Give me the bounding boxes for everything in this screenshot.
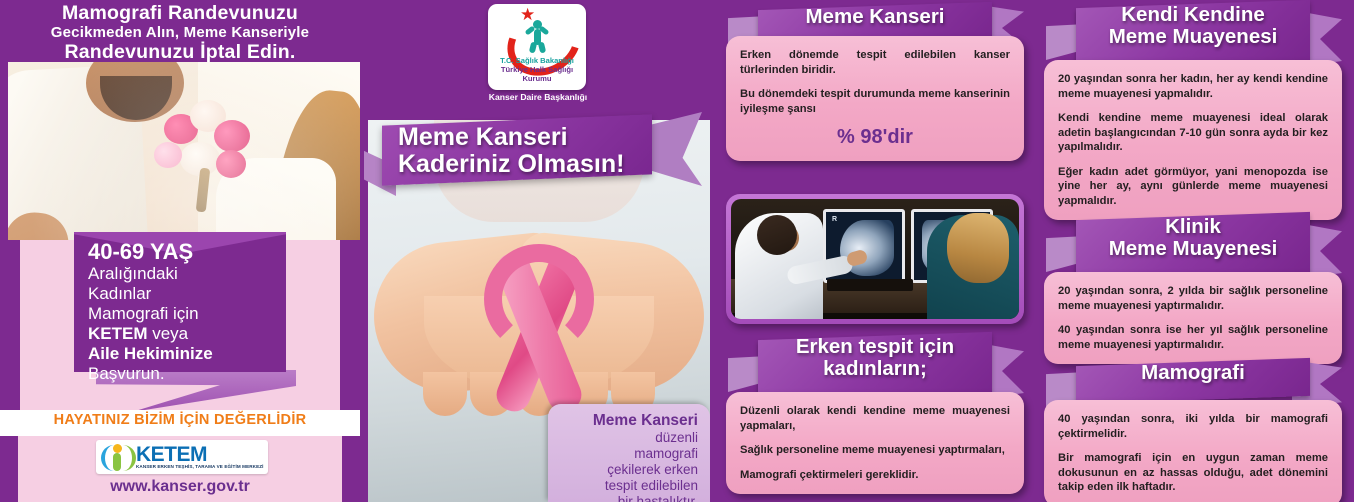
right-panel: Meme Kanseri Erken dönemde tespit edileb… [712,0,1354,502]
middle-note-line4: tespit edilebilen [558,478,698,494]
middle-panel: Meme Kanseri Kaderiniz Olmasın! T.C. Sağ… [364,0,710,502]
card-kendi-kendine-meme-muayenesi: 20 yaşından sonra her kadın, her ay kend… [1044,60,1342,220]
card-title-klinik-line1: Klinik [1165,215,1221,238]
pink-awareness-ribbon-icon [479,248,599,416]
left-headline-line3: Randevunuzu İptal Edin. [0,41,360,64]
card-erken-tespit: Düzenli olarak kendi kendine meme muayen… [726,392,1024,494]
middle-title-text: Meme Kanseri Kaderiniz Olmasın! [398,124,660,178]
ketem-logo: KETEM KANSER ERKEN TEŞHİS, TARAMA VE EĞİ… [96,440,268,474]
card-title-klinik-line2: Meme Muayenesi [1109,237,1278,260]
photo-keyboard [827,279,913,291]
ketem-subtitle: KANSER ERKEN TEŞHİS, TARAMA VE EĞİTİM ME… [136,464,264,469]
card-erken-tespit-p1: Düzenli olarak kendi kendine meme muayen… [740,404,1010,433]
ministry-logo-line2: Türkiye Halk Sağlığı Kurumu [488,65,586,83]
ministry-logo-line3: Kurumu [522,74,551,83]
callout-line3: Kadınlar [88,284,274,304]
left-headline-line2: Gecikmeden Alın, Meme Kanseriyle [0,24,360,41]
card-title-erken-tespit-line1: Erken tespit için [796,335,954,358]
card-klinik-meme-muayenesi: 20 yaşından sonra, 2 yılda bir sağlık pe… [1044,272,1342,364]
ketem-figure-icon [96,441,136,473]
left-slogan: HAYATINIZ BİZİM İÇİN DEĞERLİDİR [0,412,360,428]
right-column-b: Kendi Kendine Meme Muayenesi 20 yaşından… [1034,0,1352,502]
photo-doctor-hair [757,215,797,255]
middle-note-line1: düzenli [558,430,698,446]
card-title-kendi-kendine-line1: Kendi Kendine [1121,3,1265,26]
card-banner-mamografi: Mamografi [1048,358,1338,402]
callout-line7: Başvurun. [88,364,274,384]
card-kendi-kendine-p1: 20 yaşından sonra her kadın, her ay kend… [1058,72,1328,101]
ministry-of-health-logo: T.C. Sağlık Bakanlığı Türkiye Halk Sağlı… [488,4,586,90]
card-kendi-kendine-p2: Kendi kendine meme muayenesi ideal olara… [1058,111,1328,155]
card-title-kendi-kendine-line2: Meme Muayenesi [1109,25,1278,48]
website-url[interactable]: www.kanser.gov.tr [0,478,360,496]
middle-note-line5: bir hastalıktır. [558,494,698,502]
left-edge-purple-right [340,240,360,414]
middle-title-line2: Kaderiniz Olmasın! [398,151,660,178]
callout-line6: Aile Hekiminize [88,344,274,364]
middle-title-line1: Meme Kanseri [398,124,660,151]
ministry-logo-caption: Kanser Daire Başkanlığı [468,92,608,102]
card-erken-tespit-p2: Sağlık personeline meme muayenesi yaptır… [740,443,1010,458]
callout-line4: Mamografi için [88,304,274,324]
left-headline-line1: Mamografi Randevunuzu [0,2,360,25]
card-klinik-p1: 20 yaşından sonra, 2 yılda bir sağlık pe… [1058,284,1328,313]
card-mamografi: 40 yaşından sonra, iki yılda bir mamogra… [1044,400,1342,502]
card-klinik-p2: 40 yaşından sonra ise her yıl sağlık per… [1058,323,1328,352]
breast-cancer-awareness-poster: Mamografi Randevunuzu Gecikmeden Alın, M… [0,0,1354,502]
card-meme-kanseri: Erken dönemde tespit edilebilen kanser t… [726,36,1024,161]
card-title-klinik: Klinik Meme Muayenesi [1076,216,1310,260]
left-edge-purple-left [0,240,20,414]
card-mamografi-p1: 40 yaşından sonra, iki yılda bir mamogra… [1058,412,1328,441]
callout-line5: KETEM veya [88,324,274,344]
card-title-erken-tespit-line2: kadınların; [823,357,927,380]
ketem-wordmark: KETEM [136,445,264,464]
card-title-mamografi: Mamografi [1076,362,1310,384]
human-figure-icon [528,20,546,50]
card-kendi-kendine-p3: Eğer kadın adet görmüyor, yani menopozda… [1058,165,1328,209]
mammogram-consultation-photo: R L [731,199,1019,319]
right-column-a: Meme Kanseri Erken dönemde tespit edileb… [716,0,1034,502]
card-title-meme-kanseri: Meme Kanseri [758,6,992,28]
callout-ketem-rest: veya [148,324,189,343]
middle-note-heading: Meme Kanseri [558,412,698,430]
callout-line1: 40-69 YAŞ [88,240,274,264]
card-erken-tespit-p3: Mamografi çektirmeleri gereklidir. [740,468,1010,483]
mammogram-consultation-photo-card: R L [726,194,1024,324]
middle-note-box: Meme Kanseri düzenli mamografi çekilerek… [548,404,710,502]
callout-line2: Aralığındaki [88,264,274,284]
card-title-erken-tespit: Erken tespit için kadınların; [758,336,992,380]
card-title-kendi-kendine: Kendi Kendine Meme Muayenesi [1076,4,1310,48]
middle-note-line2: mamografi [558,446,698,462]
ministry-logo-line1: T.C. Sağlık Bakanlığı [488,56,586,65]
card-meme-kanseri-p1: Erken dönemde tespit edilebilen kanser t… [740,48,1010,77]
callout-ketem-bold: KETEM [88,324,148,343]
ketem-logo-text-block: KETEM KANSER ERKEN TEŞHİS, TARAMA VE EĞİ… [136,445,264,469]
card-meme-kanseri-p2: Bu dönemdeki tespit durumunda meme kanse… [740,87,1010,116]
mammogram-label-right-breast: R [832,216,837,223]
card-mamografi-p2: Bir mamografi için en uygun zaman meme d… [1058,451,1328,495]
left-headline: Mamografi Randevunuzu Gecikmeden Alın, M… [0,0,360,62]
age-range-callout-text: 40-69 YAŞ Aralığındaki Kadınlar Mamograf… [88,240,274,384]
photo-patient [927,215,1019,319]
ministry-logo-line2a: Türkiye Halk Sağlığı [501,65,573,74]
middle-note-line3: çekilerek erken [558,462,698,478]
card-meme-kanseri-highlight: % 98'dir [740,126,1010,149]
left-panel: Mamografi Randevunuzu Gecikmeden Alın, M… [0,0,360,502]
photo-patient-hair [947,213,1009,283]
